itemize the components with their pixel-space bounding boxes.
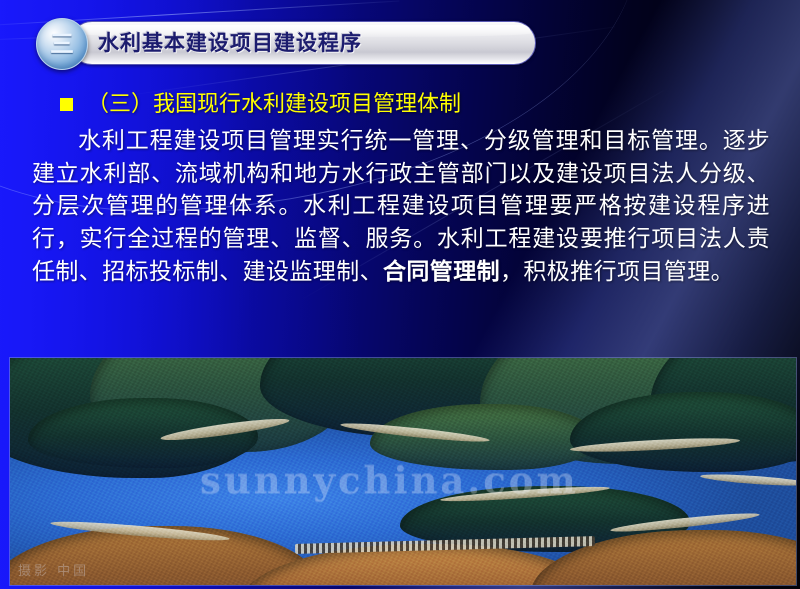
section-number-label: 三: [50, 32, 74, 56]
heading-row: （三）我国现行水利建设项目管理体制: [22, 88, 778, 121]
page-title: 水利基本建设项目建设程序: [98, 27, 362, 57]
square-bullet-icon: [60, 98, 73, 111]
aerial-reservoir-photograph: sunnychina.com 摄影 中国: [10, 358, 796, 585]
paragraph-emphasis: 合同管理制: [383, 259, 500, 285]
section-number-badge: 三: [36, 18, 88, 70]
section-heading: （三）我国现行水利建设项目管理体制: [87, 88, 461, 121]
paragraph-run: ，积极推行项目管理。: [500, 259, 734, 285]
photo-corner-watermark: 摄影 中国: [18, 560, 89, 579]
body-paragraph: 水利工程建设项目管理实行统一管理、分级管理和目标管理。逐步建立水利部、流域机构和…: [22, 125, 778, 288]
slide-header: 三 水利基本建设项目建设程序: [36, 18, 536, 68]
photo-watermark: sunnychina.com: [200, 458, 579, 502]
slide-content: （三）我国现行水利建设项目管理体制 水利工程建设项目管理实行统一管理、分级管理和…: [22, 88, 778, 288]
presentation-slide: 三 水利基本建设项目建设程序 （三）我国现行水利建设项目管理体制 水利工程建设项…: [0, 0, 800, 589]
